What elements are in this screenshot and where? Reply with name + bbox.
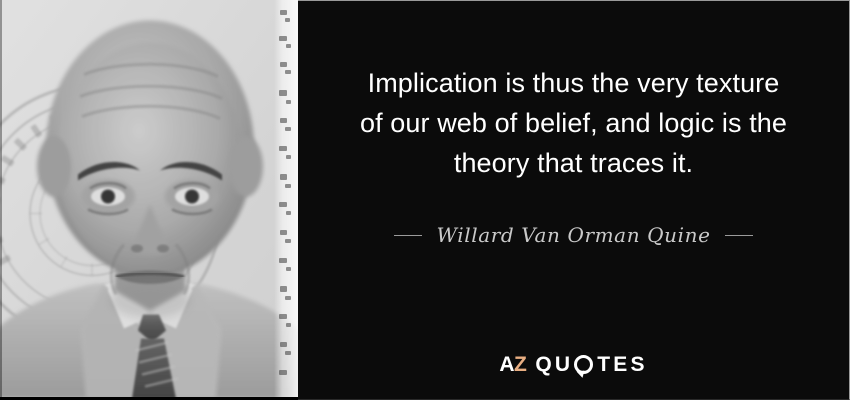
azquotes-logo-inner: AZ QU TES [499,354,647,375]
speech-bubble-o-icon [574,355,593,374]
logo-quotes-qu: QU [535,354,573,375]
logo-az-wordmark: AZ [499,354,526,375]
quote-line-3: theory that traces it. [320,143,827,183]
logo-quotes-tes: TES [597,354,647,375]
quote-card: Implication is thus the very texture of … [0,0,850,400]
quote-text: Implication is thus the very texture of … [320,63,827,183]
quote-line-2: of our web of belief, and logic is the [320,103,827,143]
portrait-panel [0,0,298,400]
attribution-author: Willard Van Orman Quine [436,223,710,247]
quote-line-1: Implication is thus the very texture [320,63,827,103]
attribution-dash-left [394,235,422,236]
attribution: Willard Van Orman Quine [298,223,849,247]
logo-quotes-wordmark: QU TES [535,354,647,375]
attribution-dash-right [725,235,753,236]
quote-text-panel: Implication is thus the very texture of … [298,0,850,400]
azquotes-logo[interactable]: AZ QU TES [298,354,849,375]
portrait-photo [0,0,298,397]
logo-letter-z: Z [514,353,526,376]
speech-bubble-tail [577,370,586,378]
logo-letter-a: A [499,353,514,376]
